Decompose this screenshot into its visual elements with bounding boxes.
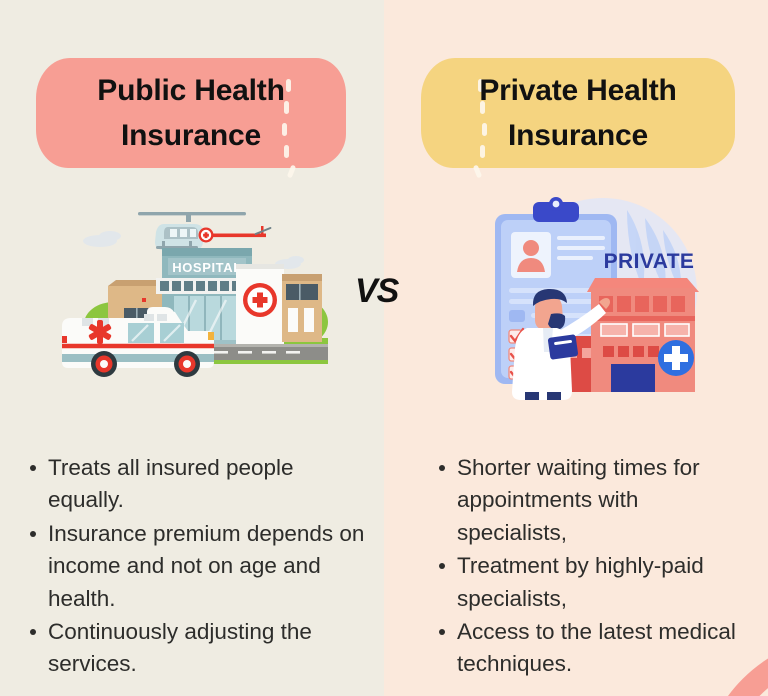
- hospital-sign-text: HOSPITAL: [172, 260, 242, 275]
- right-title-text: Private Health Insurance: [479, 68, 676, 158]
- private-sign-text: PRIVATE: [604, 250, 695, 273]
- right-bullet-list: Shorter waiting times for appointments w…: [430, 452, 750, 682]
- list-item: Treatment by highly-paid specialists,: [430, 550, 750, 615]
- right-title-pill: Private Health Insurance: [421, 58, 735, 168]
- list-item: Insurance premium depends on income and …: [21, 518, 366, 615]
- left-title-text: Public Health Insurance: [97, 68, 284, 158]
- left-bullet-list: Treats all insured people equally. Insur…: [21, 452, 366, 682]
- infographic-canvas: Public Health Insurance Private Health I…: [0, 0, 768, 696]
- hospital-white-wing: [236, 264, 284, 344]
- hospital-annex-right: [282, 274, 322, 342]
- list-item: Shorter waiting times for appointments w…: [430, 452, 750, 549]
- public-hospital-illustration: HOSPITAL: [56, 196, 328, 398]
- list-item: Continuously adjusting the services.: [21, 616, 366, 681]
- helicopter-icon: [138, 212, 272, 250]
- private-clinic-illustration: PRIVATE: [487, 196, 699, 400]
- list-item: Access to the latest medical techniques.: [430, 616, 750, 681]
- versus-label: VS: [355, 272, 398, 311]
- left-title-pill: Public Health Insurance: [36, 58, 346, 168]
- list-item: Treats all insured people equally.: [21, 452, 366, 517]
- private-building: PRIVATE: [587, 250, 699, 392]
